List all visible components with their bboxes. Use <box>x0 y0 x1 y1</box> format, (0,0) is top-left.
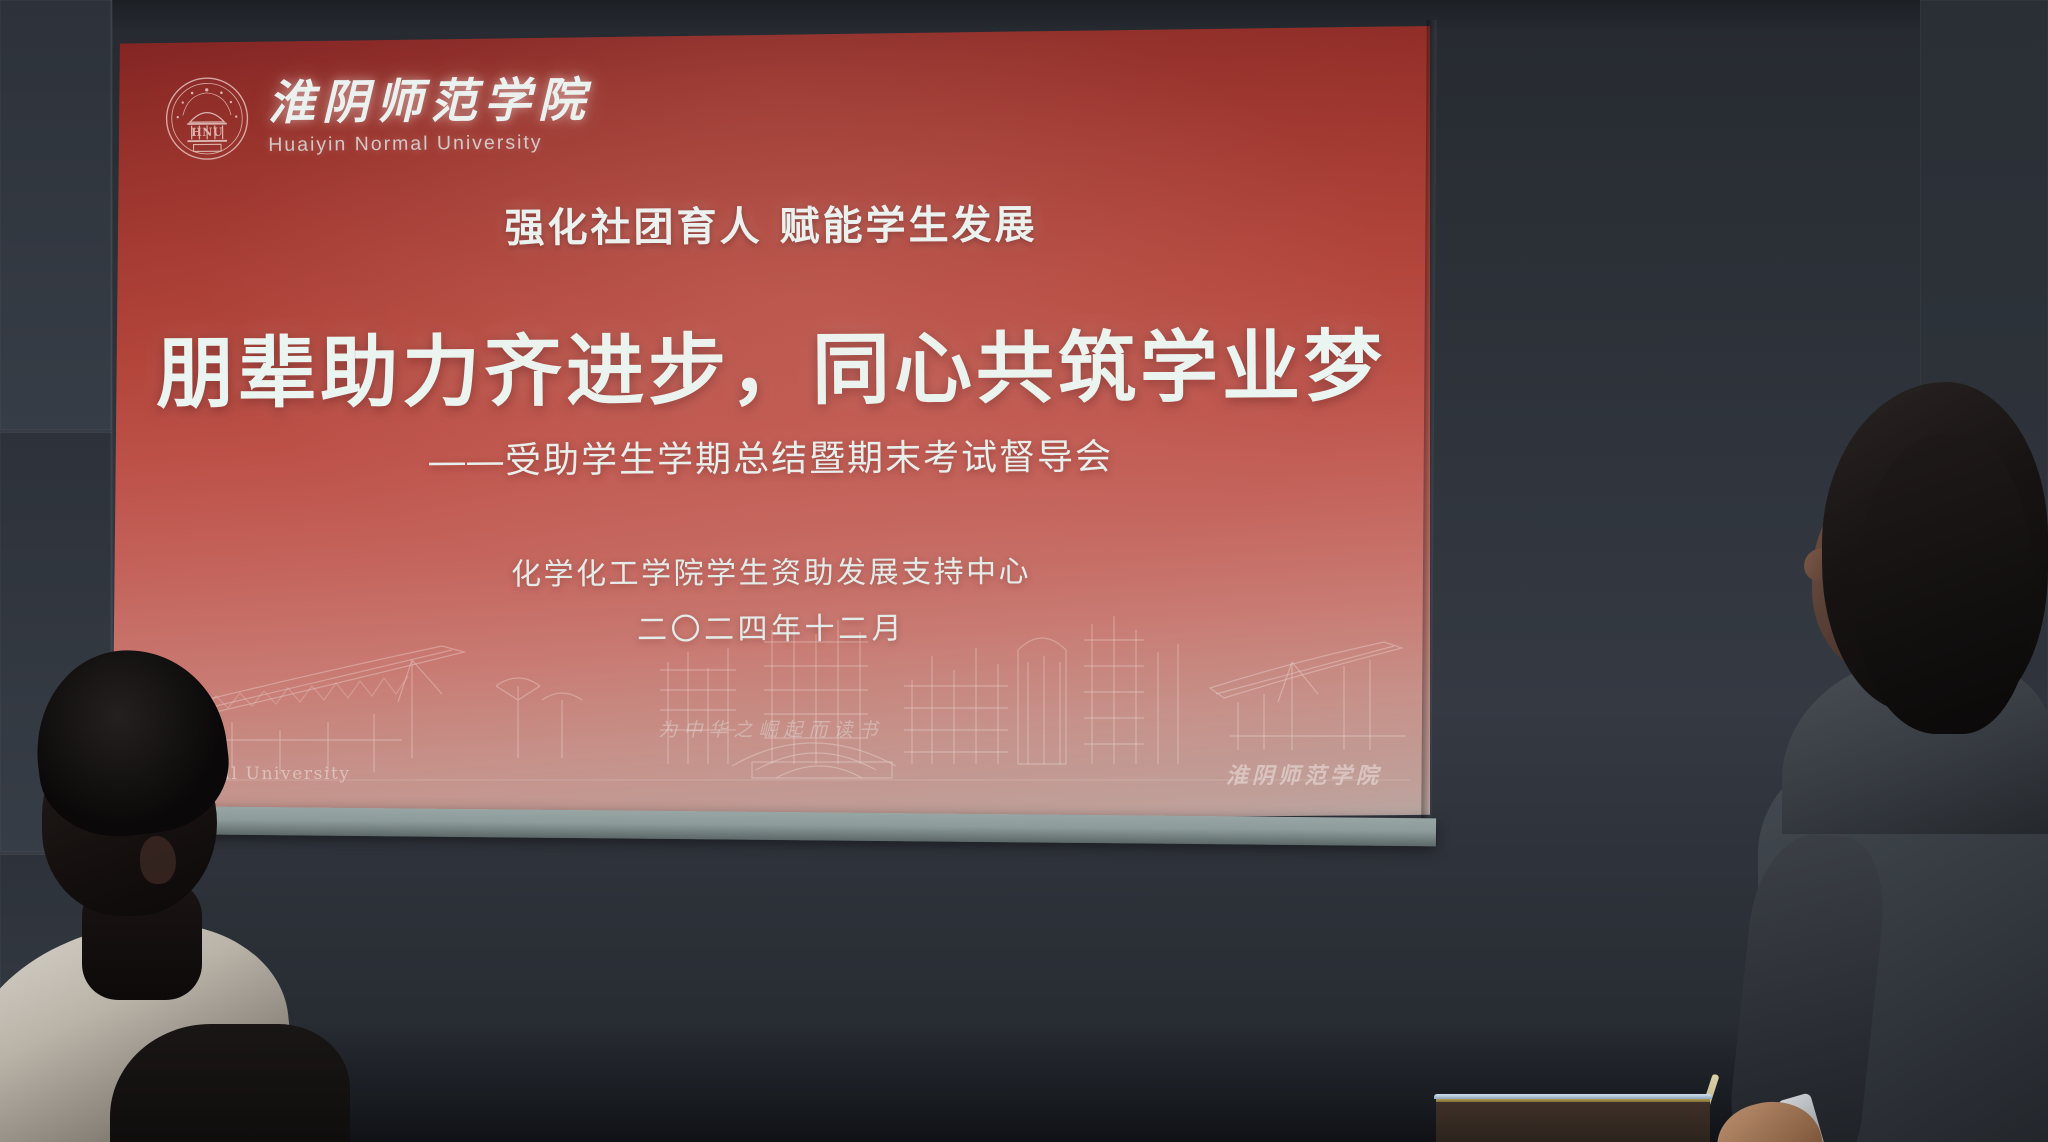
university-brand-lockup: HNU 淮阴师范学院 Huaiyin Normal University <box>164 72 593 162</box>
slide-theme-line: 强化社团育人 赋能学生发展 <box>112 189 1430 256</box>
svg-text:HNU: HNU <box>191 126 223 139</box>
slide-content: HNU 淮阴师范学院 Huaiyin Normal University 强化社… <box>112 26 1430 826</box>
brand-text-block: 淮阴师范学院 Huaiyin Normal University <box>268 77 593 156</box>
slide-organization-line: 化学化工学院学生资助发展支持中心 <box>112 545 1430 596</box>
slide-date-line: 二〇二四年十二月 <box>112 601 1430 652</box>
projection-screen: HNU 淮阴师范学院 Huaiyin Normal University 强化社… <box>112 26 1430 826</box>
wall-panel-left-upper <box>0 0 112 430</box>
watermark-bottom-center: 为中华之崛起而读书 <box>112 715 1430 742</box>
wall-seam-left-h1 <box>0 430 112 433</box>
projected-slide-surface: HNU 淮阴师范学院 Huaiyin Normal University 强化社… <box>112 26 1430 826</box>
slide-main-title: 朋辈助力齐进步，同心共筑学业梦 <box>112 304 1430 424</box>
watermark-bottom-left: Normal University <box>164 764 351 784</box>
slide-sub-title: ——受助学生学期总结暨期末考试督导会 <box>112 426 1430 486</box>
university-name-cn: 淮阴师范学院 <box>268 77 592 127</box>
wall-panel-left-lower <box>0 854 112 1142</box>
conference-room-scene: HNU 淮阴师范学院 Huaiyin Normal University 强化社… <box>0 0 2048 1142</box>
wall-seam-left-h2 <box>0 852 112 855</box>
laptop-device[interactable] <box>1434 1094 1712 1142</box>
watermark-bottom-right: 淮阴师范学院 <box>1226 758 1382 790</box>
laptop-lid-back <box>1436 1102 1710 1142</box>
university-name-en: Huaiyin Normal University <box>268 133 592 156</box>
wall-panel-left-middle <box>0 432 112 852</box>
wall-panel-right <box>1920 0 2048 1142</box>
university-seal-icon: HNU <box>164 75 251 162</box>
